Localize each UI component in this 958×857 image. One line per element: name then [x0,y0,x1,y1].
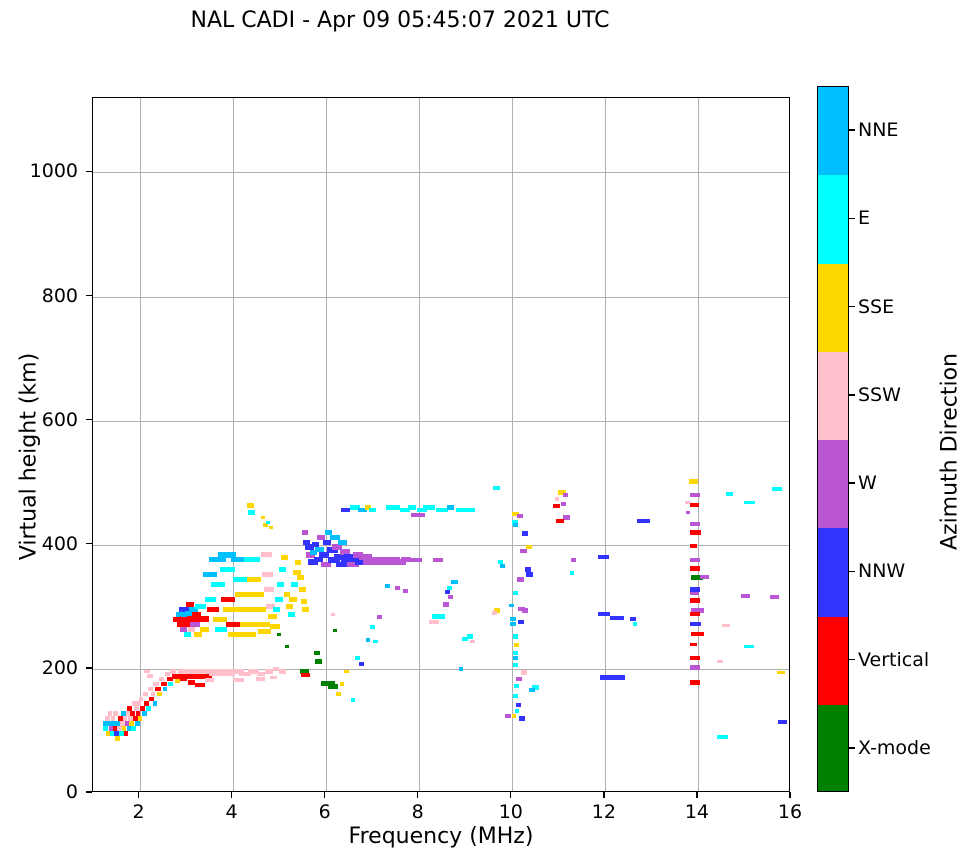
echo-mark [205,597,216,602]
echo-mark [522,608,528,612]
echo-mark [633,622,638,626]
echo-mark [510,622,516,626]
gridline-vertical [419,98,420,791]
gridline-vertical [326,98,327,791]
colorbar-tick [849,747,855,748]
echo-mark [289,597,296,602]
echo-mark [493,486,500,490]
echo-mark [333,629,337,632]
echo-mark [510,617,516,621]
echo-mark [155,687,161,691]
echo-mark [113,711,118,715]
echo-mark [159,677,164,681]
echo-mark [338,540,347,546]
echo-mark [690,544,697,547]
echo-mark [228,632,242,637]
echo-mark [462,637,468,641]
echo-mark [341,508,349,512]
echo-mark [286,604,293,609]
echo-mark [163,687,168,691]
colorbar-segment-nne [818,87,848,175]
echo-mark [103,726,108,731]
echo-mark [180,677,187,681]
colorbar-tick [849,659,855,660]
colorbar-segment-e [818,175,848,263]
echo-mark [411,513,425,517]
echo-mark [261,552,272,557]
echo-mark [240,622,256,627]
echo-mark [115,736,120,740]
gridline-horizontal [93,421,789,422]
echo-mark [328,684,338,689]
echo-mark [492,611,497,615]
echo-mark [277,633,281,636]
echo-mark [468,508,475,512]
echo-mark [184,632,191,637]
echo-mark [690,522,699,526]
echo-mark [447,505,454,509]
x-tick-mark [324,792,325,798]
echo-mark [137,701,142,705]
echo-mark [194,632,202,637]
y-tick-label: 200 [6,657,78,679]
colorbar-segment-w [818,440,848,528]
echo-mark [209,557,226,562]
gridline-vertical [512,98,513,791]
echo-mark [519,716,525,720]
colorbar-segment-sse [818,264,848,352]
echo-mark [134,706,139,710]
echo-mark [690,665,699,669]
echo-mark [513,656,519,660]
echo-mark [690,656,699,660]
echo-mark [149,697,155,701]
echo-mark [690,530,700,535]
echo-mark [366,638,371,642]
echo-mark [273,667,280,671]
colorbar-tick [849,482,855,483]
echo-mark [255,622,270,627]
echo-mark [153,682,158,686]
echo-mark [690,503,699,507]
echo-mark [261,516,265,520]
echo-mark [598,612,610,616]
echo-mark [447,586,453,590]
echo-mark [518,620,524,624]
echo-mark [131,726,136,730]
x-axis-label: Frequency (MHz) [92,824,790,849]
plot-area [92,97,790,792]
echo-mark [370,625,375,629]
echo-mark [136,711,141,715]
gridline-vertical [605,98,606,791]
echo-mark [689,479,698,483]
echo-mark [213,617,227,622]
echo-mark [522,531,528,535]
x-tick-label: 10 [481,801,541,823]
echo-mark [500,564,506,568]
echo-mark [514,684,520,688]
page-title: NAL CADI - Apr 09 05:45:07 2021 UTC [0,8,800,33]
echo-mark [146,706,151,710]
echo-mark [266,521,270,525]
echo-mark [279,567,286,572]
x-tick-mark [138,792,139,798]
echo-mark [344,670,349,674]
echo-mark [323,540,331,545]
echo-mark [340,682,345,686]
echo-mark [247,577,262,582]
echo-mark [195,683,204,687]
echo-mark [135,721,140,725]
echo-mark [517,577,524,581]
echo-mark [147,674,153,678]
echo-mark [630,617,636,621]
echo-mark [722,624,729,628]
echo-mark [369,508,376,512]
echo-mark [170,669,176,673]
echo-mark [505,714,511,718]
echo-mark [637,519,649,523]
echo-mark [513,634,519,638]
echo-mark [295,560,302,565]
echo-mark [690,558,699,562]
colorbar [817,86,849,792]
echo-mark [691,632,703,636]
gridline-vertical [140,98,141,791]
gridline-horizontal [93,297,789,298]
echo-mark [744,645,754,649]
echo-mark [408,505,415,509]
echo-mark [270,676,277,680]
x-tick-mark [510,792,511,798]
echo-mark [336,692,341,696]
echo-mark [570,571,575,575]
echo-mark [690,598,699,602]
echo-mark [188,680,195,684]
y-axis-label: Virtual height (km) [17,307,42,607]
echo-mark [242,632,256,637]
x-tick-mark [417,792,418,798]
echo-mark [515,709,520,713]
colorbar-tick [849,571,855,572]
echo-mark [690,493,699,497]
echo-mark [445,590,451,594]
echo-mark [256,677,265,681]
x-tick-mark [696,792,697,798]
y-tick-mark [86,419,92,420]
echo-mark [257,672,265,676]
echo-mark [144,701,149,705]
echo-mark [553,504,560,508]
echo-mark [770,595,779,599]
gridline-horizontal [93,172,789,173]
echo-mark [244,557,260,562]
echo-mark [385,584,390,588]
echo-mark [314,651,321,655]
echo-mark [355,656,360,660]
echo-mark [451,580,458,584]
echo-mark [777,671,785,675]
colorbar-segment-ssw [818,352,848,440]
echo-mark [423,505,435,509]
echo-mark [513,523,519,527]
echo-mark [686,511,691,515]
echo-mark [148,687,153,691]
echo-mark [456,508,468,512]
echo-mark [151,692,156,696]
echo-mark [275,597,282,602]
echo-mark [517,514,523,518]
echo-mark [195,604,205,609]
echo-mark [403,589,408,593]
echo-mark [247,503,254,508]
echo-mark [433,558,443,562]
echo-mark [138,716,143,720]
echo-mark [610,616,624,620]
echo-mark [315,659,322,663]
echo-mark [262,572,272,577]
y-tick-mark [86,543,92,544]
colorbar-tick [849,129,855,130]
echo-mark [205,678,214,682]
x-tick-mark [603,792,604,798]
echo-mark [690,612,699,616]
echo-mark [778,720,787,724]
x-tick-label: 8 [388,801,448,823]
echo-mark [717,660,724,664]
echo-mark [200,627,209,632]
colorbar-label-nne: NNE [858,119,898,141]
echo-mark [555,497,560,501]
echo-mark [598,555,608,559]
colorbar-label-sse: SSE [858,296,894,318]
colorbar-label-x-mode: X-mode [858,737,931,759]
colorbar-label-e: E [858,207,870,229]
echo-mark [297,575,304,580]
echo-mark [130,711,135,715]
echo-mark [203,572,217,577]
echo-mark [215,627,227,632]
colorbar-title: Azimuth Direction [938,302,958,602]
echo-mark [516,677,522,681]
echo-mark [509,604,514,608]
echo-mark [513,663,519,667]
echo-mark [248,510,255,514]
x-tick-mark [231,792,232,798]
echo-mark [140,706,145,710]
echo-mark [690,643,697,646]
echo-mark [269,526,273,530]
echo-mark [700,575,709,579]
echo-mark [221,597,235,602]
echo-mark [611,675,625,679]
echo-mark [288,612,295,617]
echo-mark [513,694,519,698]
echo-mark [161,682,167,686]
echo-mark [717,735,727,739]
echo-mark [153,701,158,705]
colorbar-label-nnw: NNW [858,560,905,582]
echo-mark [268,614,277,619]
echo-mark [190,622,200,627]
x-tick-label: 6 [295,801,355,823]
echo-mark [197,616,209,622]
echo-mark [525,567,532,571]
echo-mark [556,519,563,523]
echo-mark [331,613,335,616]
echo-mark [513,651,519,655]
x-tick-mark [789,792,790,798]
echo-mark [526,572,533,576]
echo-mark [690,566,699,570]
echo-mark [277,582,284,587]
echo-mark [690,680,699,684]
echo-mark [142,711,147,715]
echo-mark [233,678,244,682]
echo-mark [252,607,266,612]
colorbar-tick [849,218,855,219]
echo-mark [139,697,144,701]
echo-mark [291,582,298,587]
echo-mark [220,567,236,572]
echo-mark [409,558,421,562]
echo-mark [516,703,522,707]
echo-mark [741,594,750,598]
echo-mark [124,731,129,735]
echo-mark [561,502,566,506]
echo-mark [211,582,225,587]
echo-mark [302,607,309,612]
echo-mark [279,669,286,673]
echo-mark [470,640,475,644]
echo-mark [273,607,280,612]
colorbar-segment-x-mode [818,705,848,792]
echo-mark [448,595,454,599]
echo-mark [377,615,383,619]
colorbar-segment-vertical [818,617,848,705]
echo-mark [249,592,264,597]
colorbar-label-w: W [858,472,877,494]
echo-mark [168,682,173,686]
echo-mark [521,670,527,674]
echo-mark [270,624,280,629]
gridline-vertical [233,98,234,791]
echo-mark [258,629,271,634]
echo-mark [432,614,445,619]
echo-mark [429,620,439,624]
echo-mark [726,492,733,496]
echo-mark [281,555,288,560]
echo-mark [264,587,273,592]
echo-mark [127,706,132,710]
ionogram-figure: NAL CADI - Apr 09 05:45:07 2021 UTC 0200… [0,0,958,857]
y-tick-label: 1000 [6,160,78,182]
y-tick-label: 0 [6,781,78,803]
y-tick-mark [86,295,92,296]
colorbar-label-vertical: Vertical [858,649,929,671]
echo-mark [563,515,570,519]
echo-mark [571,558,576,562]
echo-mark [172,674,180,678]
echo-mark [443,602,449,606]
y-tick-mark [86,667,92,668]
echo-mark [301,599,308,604]
echo-mark [386,505,400,509]
echo-mark [157,692,162,696]
x-tick-label: 16 [760,801,820,823]
gridline-horizontal [93,545,789,546]
y-tick-mark [86,791,92,792]
echo-mark [144,670,150,674]
echo-mark [108,711,112,715]
echo-mark [520,549,527,553]
echo-mark [744,501,754,505]
echo-mark [772,487,781,491]
echo-mark [513,591,519,595]
y-tick-label: 800 [6,285,78,307]
x-tick-label: 4 [202,801,262,823]
gridline-vertical [698,98,699,791]
echo-mark [285,645,290,649]
echo-mark [526,545,533,549]
colorbar-label-ssw: SSW [858,384,901,406]
echo-mark [207,607,219,612]
echo-mark [265,669,272,673]
colorbar-tick [849,306,855,307]
colorbar-tick [849,394,855,395]
echo-mark [299,587,306,592]
echo-mark [143,692,148,696]
x-tick-label: 2 [109,801,169,823]
x-tick-label: 12 [574,801,634,823]
echo-mark [563,493,568,497]
echo-mark [512,714,517,718]
y-tick-mark [86,171,92,172]
echo-mark [395,586,400,590]
echo-mark [690,622,700,626]
echo-mark [359,662,364,666]
echo-mark [529,688,535,692]
echo-mark [514,643,520,647]
x-tick-label: 14 [667,801,727,823]
echo-mark [302,530,308,535]
echo-mark [373,640,378,644]
echo-mark [690,592,698,595]
echo-mark [129,721,134,725]
echo-mark [123,716,128,720]
echo-mark [351,698,356,702]
echo-mark [301,673,310,677]
echo-mark [459,667,464,671]
colorbar-segment-nnw [818,528,848,616]
